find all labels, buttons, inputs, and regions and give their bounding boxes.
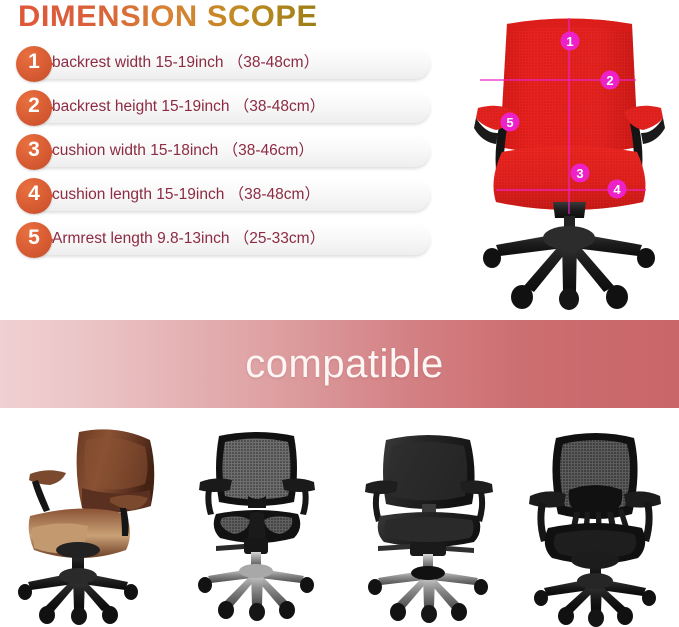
dimension-list: backrest width 15-19inch （38-48cm） 1 bac… [0,44,440,264]
svg-text:3: 3 [576,166,583,181]
marker-2: 2 [601,71,620,90]
dimension-label: cushion width 15-18inch （38-46cm） [52,135,314,167]
compatible-chairs-strip [0,410,679,627]
dimension-badge: 4 [16,176,62,216]
dimension-badge: 3 [16,132,62,172]
dimension-badge: 2 [16,88,62,128]
marker-1: 1 [561,32,580,51]
compatible-chair-1 [0,410,170,627]
compatible-banner-text: compatible [0,320,679,408]
badge-number: 1 [16,44,52,80]
dimension-label: backrest width 15-19inch （38-48cm） [52,47,319,79]
dimension-row: backrest width 15-19inch （38-48cm） 1 [0,44,440,88]
badge-number: 4 [16,176,52,212]
marker-4: 4 [608,180,627,199]
marker-5: 5 [501,113,520,132]
compatible-chair-4 [512,410,679,627]
dimension-row: Armrest length 9.8-13inch （25-33cm） 5 [0,220,440,264]
svg-text:4: 4 [613,182,621,197]
svg-text:2: 2 [606,73,613,88]
dimension-row: backrest height 15-19inch （38-48cm） 2 [0,88,440,132]
dimension-row: cushion length 15-19inch （38-48cm） 4 [0,176,440,220]
svg-text:1: 1 [566,34,573,49]
compatible-chair-3 [344,410,514,627]
marker-3: 3 [571,164,590,183]
product-infographic: DIMENSION SCOPE backrest width 15-19inch… [0,0,679,627]
dimension-badge: 5 [16,220,62,260]
badge-number: 2 [16,88,52,124]
badge-number: 5 [16,220,52,256]
compatible-chair-2 [172,410,342,627]
reference-chair-image: 1 2 3 4 5 [460,2,679,314]
dimension-row: cushion width 15-18inch （38-46cm） 3 [0,132,440,176]
svg-text:5: 5 [506,115,513,130]
dimension-label: cushion length 15-19inch （38-48cm） [52,179,320,211]
dimension-label: Armrest length 9.8-13inch （25-33cm） [52,223,325,255]
badge-number: 3 [16,132,52,168]
compatible-banner: compatible [0,320,679,408]
page-title: DIMENSION SCOPE [18,0,318,34]
dimension-label: backrest height 15-19inch （38-48cm） [52,91,325,123]
dimension-badge: 1 [16,44,62,84]
